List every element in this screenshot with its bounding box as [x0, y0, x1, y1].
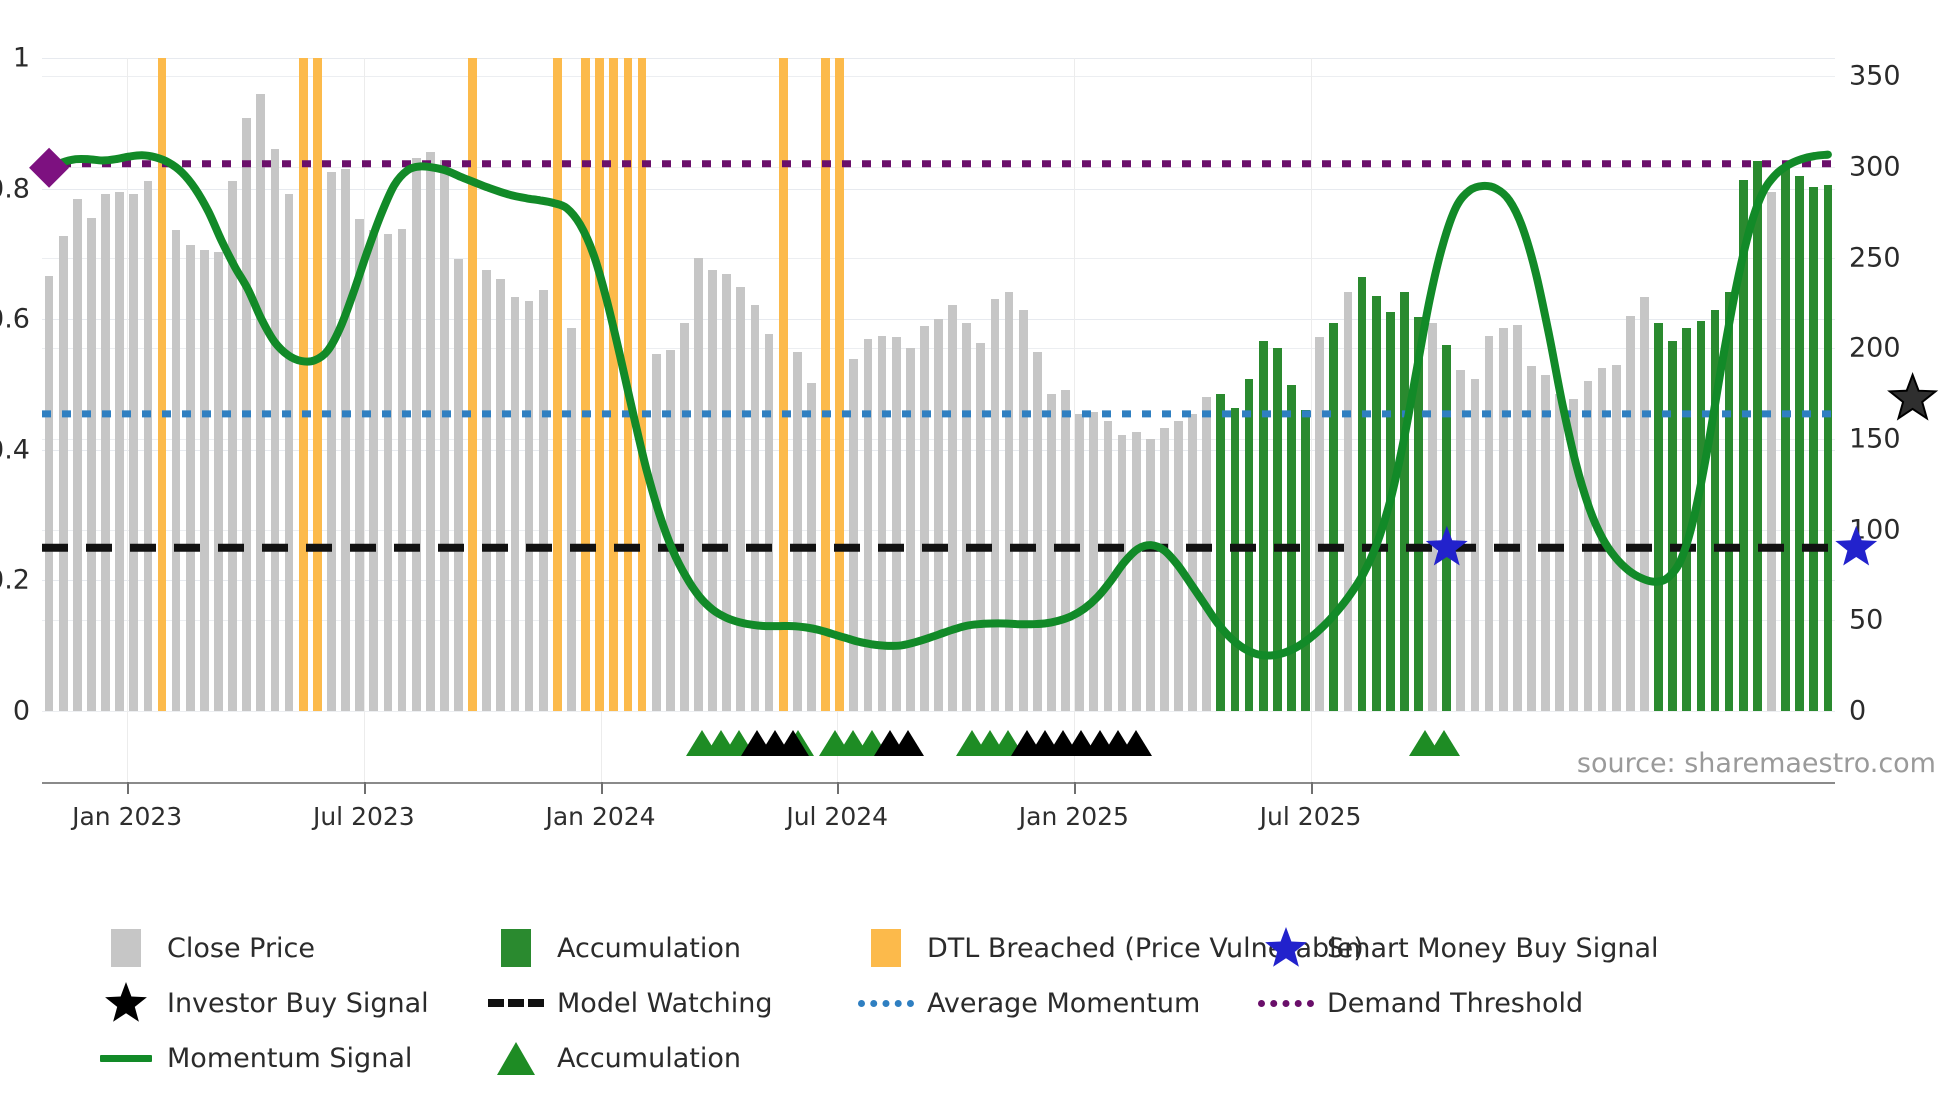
x-axis-tick-label: Jan 2025 [1019, 802, 1129, 831]
legend-item[interactable]: Accumulation [485, 1042, 741, 1075]
legend-label: Accumulation [557, 1043, 741, 1074]
legend-label: Momentum Signal [167, 1043, 412, 1074]
accumulation-triangle-marker-black [777, 730, 809, 756]
right-axis-tick-label: 250 [1849, 244, 1901, 271]
legend-item[interactable]: Demand Threshold [1255, 988, 1583, 1019]
legend-item[interactable]: Momentum Signal [95, 1043, 412, 1074]
accumulation-triangle-marker-black [892, 730, 924, 756]
legend-item[interactable]: Accumulation [485, 929, 741, 967]
chart-legend: Close PriceAccumulationDTL Breached (Pri… [95, 925, 1895, 1090]
legend-item[interactable]: Average Momentum [855, 988, 1200, 1019]
right-axis-tick-label: 300 [1849, 153, 1901, 180]
left-axis-tick-label: 1 [13, 45, 30, 72]
legend-label: Model Watching [557, 988, 772, 1019]
demand-threshold-swatch [1255, 1000, 1317, 1007]
right-axis-tick-label: 350 [1849, 63, 1901, 90]
right-axis-tick-label: 200 [1849, 335, 1901, 362]
right-axis-tick-label: 0 [1849, 698, 1866, 725]
smart-money-star-swatch [1255, 925, 1317, 971]
legend-item[interactable]: Model Watching [485, 988, 772, 1019]
legend-label: Close Price [167, 933, 315, 964]
legend-row: Close PriceAccumulationDTL Breached (Pri… [95, 925, 1895, 971]
left-axis-tick-label: 0.6 [0, 306, 30, 333]
x-axis-tick-label: Jul 2023 [313, 802, 415, 831]
model-watching-swatch [485, 999, 547, 1007]
dtl-breached-swatch [855, 929, 917, 967]
close-price-swatch [95, 929, 157, 967]
x-axis-tick [837, 782, 839, 794]
source-note: source: sharemaestro.com [1577, 748, 1936, 779]
x-axis-tick [1074, 782, 1076, 794]
x-axis-tick-label: Jan 2023 [72, 802, 182, 831]
investor-buy-signal-star [1890, 375, 1936, 418]
left-axis-tick-label: 0 [13, 698, 30, 725]
left-axis-tick-label: 0.8 [0, 175, 30, 202]
accumulation-bar-swatch [485, 929, 547, 967]
accumulation-triangle-row [42, 712, 1835, 764]
right-axis-tick-label: 50 [1849, 607, 1883, 634]
right-axis-tick-label: 150 [1849, 425, 1901, 452]
dashed-line-swatch-icon [488, 999, 544, 1007]
plot-area [42, 58, 1835, 711]
x-axis-tick [127, 782, 129, 794]
star-swatch-icon [103, 980, 149, 1026]
left-axis-tick-label: 0.4 [0, 436, 30, 463]
x-axis-tick [1311, 782, 1313, 794]
legend-item[interactable]: Investor Buy Signal [95, 980, 429, 1026]
legend-item[interactable]: Smart Money Buy Signal [1255, 925, 1659, 971]
x-axis-tick-label: Jul 2025 [1260, 802, 1362, 831]
swatch-icon [111, 929, 141, 967]
star-swatch-icon [1263, 925, 1309, 971]
swatch-icon [871, 929, 901, 967]
accumulation-triangle-swatch [485, 1042, 547, 1075]
dotted-line-swatch-icon [1258, 1000, 1314, 1007]
momentum-signal-line [49, 155, 1828, 656]
accumulation-triangle-marker [1428, 730, 1460, 756]
x-axis-tick [601, 782, 603, 794]
dotted-line-swatch-icon [858, 1000, 914, 1007]
x-axis-tick-label: Jan 2024 [545, 802, 655, 831]
start-diamond-marker [29, 148, 69, 188]
x-axis-tick-label: Jul 2024 [786, 802, 888, 831]
accumulation-triangle-marker-black [1120, 730, 1152, 756]
legend-row: Momentum SignalAccumulation [95, 1035, 1895, 1081]
smart-money-buy-signal-star [1426, 526, 1468, 566]
investor-star-swatch [95, 980, 157, 1026]
legend-row: Investor Buy SignalModel WatchingAverage… [95, 980, 1895, 1026]
momentum-signal-swatch [95, 1055, 157, 1062]
x-axis-tick [364, 782, 366, 794]
line-swatch-icon [100, 1055, 152, 1062]
swatch-icon [501, 929, 531, 967]
legend-item[interactable]: Close Price [95, 929, 315, 967]
left-axis-tick-label: 0.2 [0, 567, 30, 594]
chart-root: 00.20.40.60.81 050100150200250300350 Jan… [0, 0, 1960, 1102]
x-axis: Jan 2023Jul 2023Jan 2024Jul 2024Jan 2025… [42, 782, 1835, 784]
legend-label: Average Momentum [927, 988, 1200, 1019]
legend-label: Investor Buy Signal [167, 988, 429, 1019]
triangle-swatch-icon [497, 1042, 535, 1075]
series-overlay [42, 58, 1835, 711]
legend-label: Demand Threshold [1327, 988, 1583, 1019]
average-momentum-swatch [855, 1000, 917, 1007]
legend-label: Smart Money Buy Signal [1327, 933, 1659, 964]
legend-label: Accumulation [557, 933, 741, 964]
